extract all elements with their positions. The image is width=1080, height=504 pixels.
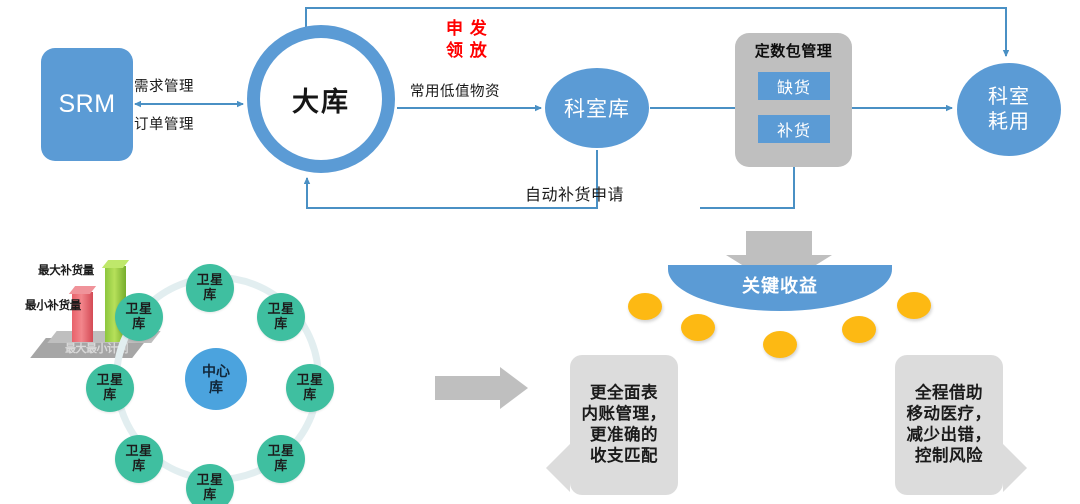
diagram-canvas: SRM 大库 科室库 科室 耗用 定数包管理 缺货 补货 需求管理 订单管理 常… [0,0,1080,504]
callout-box-1-line-4: 收支匹配 [582,446,667,467]
callout-box-2-line-4: 控制风险 [907,446,992,467]
callout-box-1[interactable]: 更全面表 内账管理， 更准确的 收支匹配 [570,355,678,495]
callout-box-2[interactable]: 全程借助 移动医疗， 减少出错， 控制风险 [895,355,1003,495]
callout-box-2-line-1: 全程借助 [907,383,992,404]
callout-box-2-line-2: 移动医疗， [907,404,992,425]
callout-box-2-line-3: 减少出错， [907,425,992,446]
callout-box-1-line-3: 更准确的 [582,425,667,446]
callout-box-1-line-1: 更全面表 [582,383,667,404]
callout-box-1-line-2: 内账管理， [582,404,667,425]
